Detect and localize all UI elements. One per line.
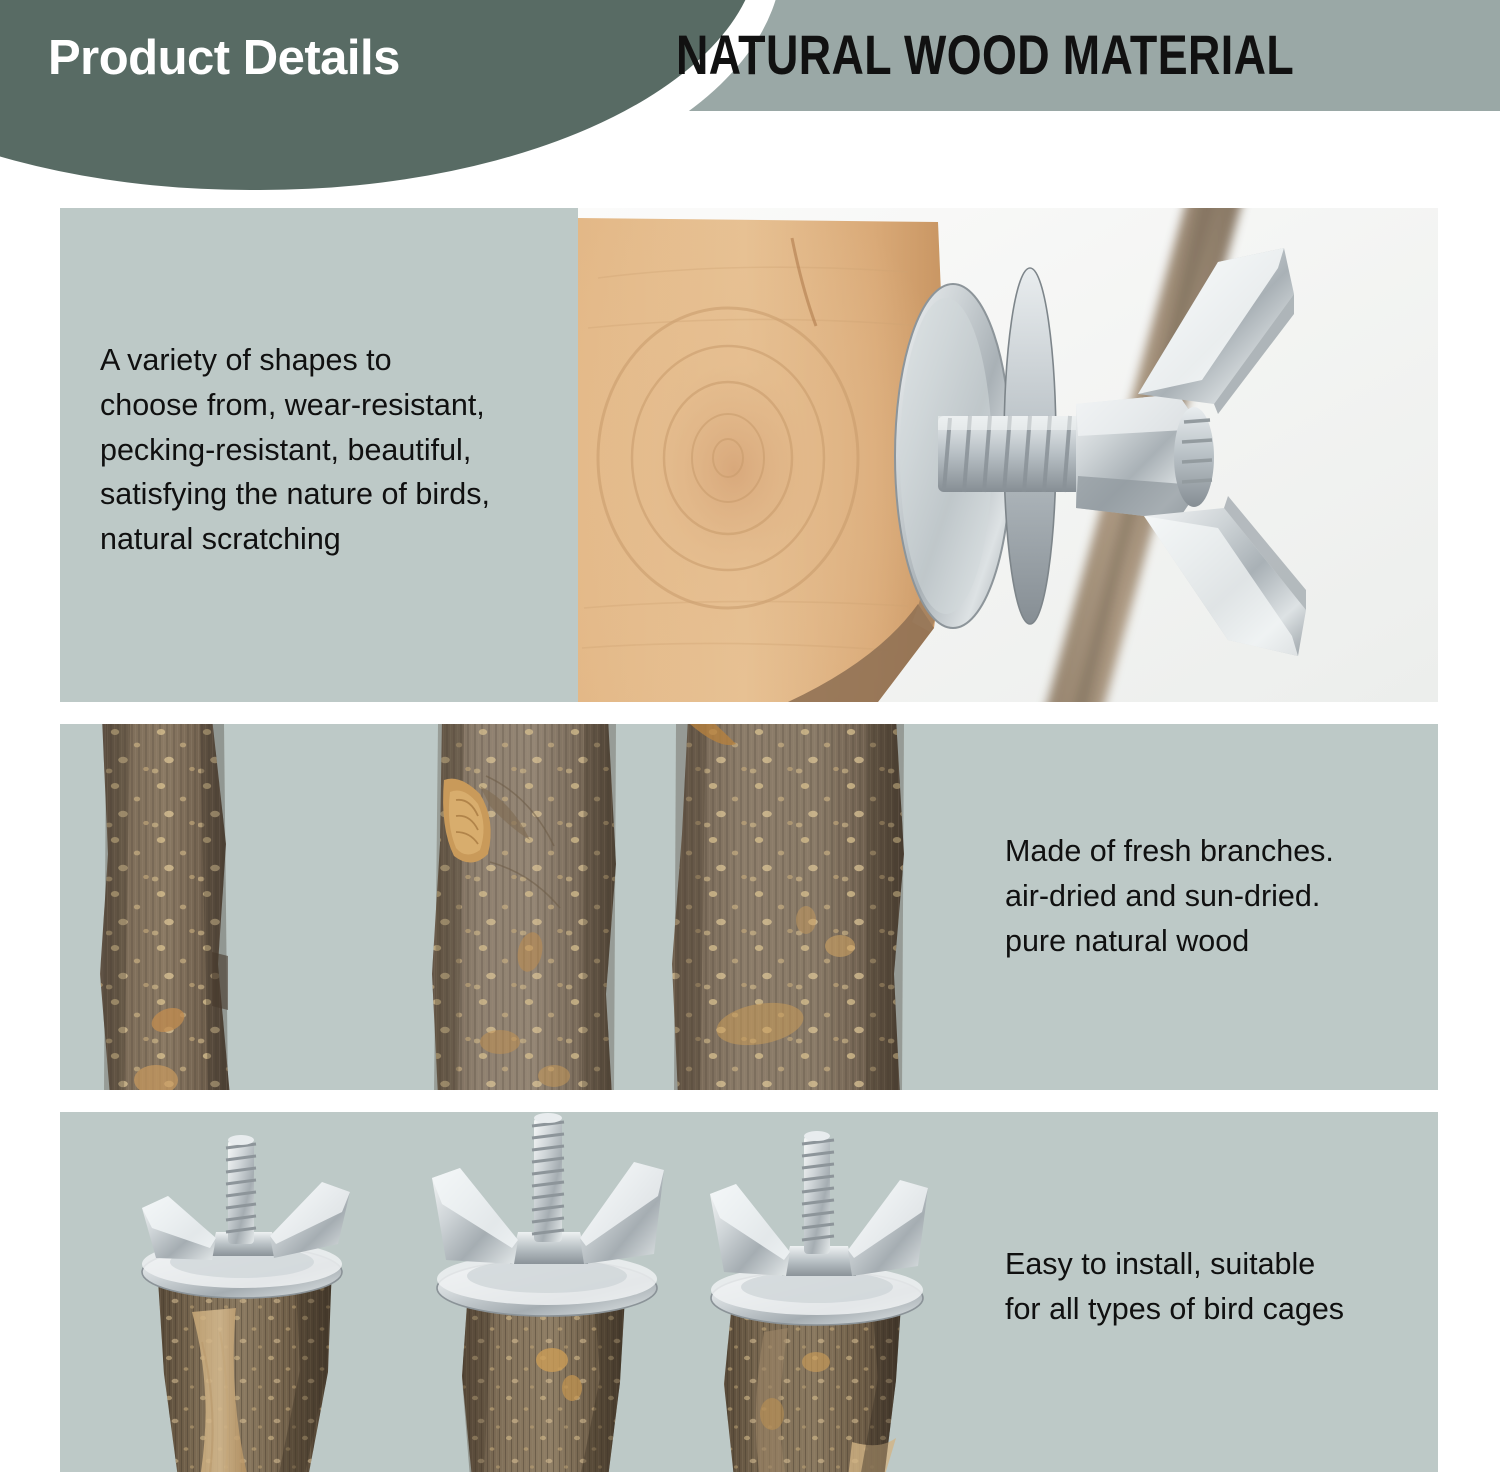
three-perches-with-wingnuts-photo [60,1112,960,1472]
page-header: Product Details NATURAL WOOD MATERIAL [0,0,1500,150]
page-title: Product Details [48,30,400,86]
panel-1-description: A variety of shapes to choose from, wear… [100,338,570,562]
panel-3-description: Easy to install, suitable for all types … [1005,1242,1435,1332]
three-natural-branches-photo [60,724,940,1090]
wingnut-bolt-on-wood-perch-photo [578,208,1438,702]
detail-panel-shapes: A variety of shapes to choose from, wear… [60,208,1438,702]
panel-2-description: Made of fresh branches. air-dried and su… [1005,829,1435,963]
detail-panel-install: Easy to install, suitable for all types … [60,1112,1438,1472]
detail-panel-branches: Made of fresh branches. air-dried and su… [60,724,1438,1090]
header-subtitle: NATURAL WOOD MATERIAL [676,22,1294,87]
header-blob [0,0,760,190]
